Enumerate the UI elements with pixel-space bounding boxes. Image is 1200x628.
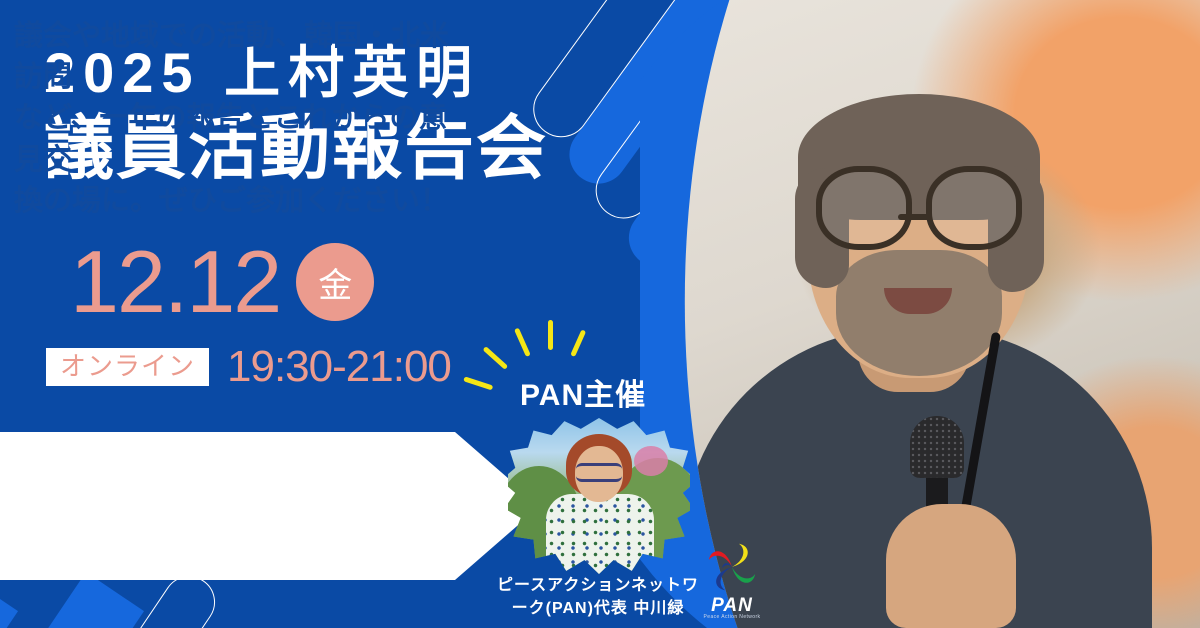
description-line-1: 議会や地域での活動、韓国・北米訪問 <box>14 16 454 98</box>
description-line-3: 換の場に。ぜひご参加ください！ <box>14 181 454 222</box>
pan-pinwheel-icon <box>695 538 769 596</box>
event-poster: 2025 上村英明 議員活動報告会 12.12 金 オンライン 19:30-21… <box>0 0 1200 628</box>
event-date-row: 12.12 金 <box>70 238 374 326</box>
speaker-photo-panel <box>640 0 1200 628</box>
pan-logo-subtitle: Peace Action Network <box>695 614 769 620</box>
presenter-photo-flowers <box>634 446 668 476</box>
portrait-glasses-left <box>816 166 912 250</box>
presenter-caption-line-2: ーク(PAN)代表 中川緑 <box>470 598 726 621</box>
bottom-stripe-1 <box>0 572 18 628</box>
microphone-head <box>910 416 964 478</box>
event-time-row: オンライン 19:30-21:00 <box>46 345 451 389</box>
pan-logo: PAN Peace Action Network <box>695 538 779 622</box>
description-text: 議会や地域での活動、韓国・北米訪問 など、一年の報告とこれからの意見交 換の場に… <box>14 16 454 222</box>
portrait-hand <box>886 504 1016 628</box>
weekday-badge: 金 <box>296 243 374 321</box>
portrait-glasses-bridge <box>898 214 930 220</box>
photo-clip <box>640 0 1200 628</box>
presenter-torso <box>546 494 654 574</box>
online-badge: オンライン <box>46 348 209 386</box>
portrait-glasses-right <box>926 166 1022 250</box>
host-block: PAN主催 <box>520 370 646 414</box>
event-date: 12.12 <box>70 238 280 326</box>
presenter-caption: ピースアクションネットワ ーク(PAN)代表 中川緑 <box>470 575 726 620</box>
description-banner <box>0 432 540 580</box>
sparkle-icon <box>490 320 610 386</box>
presenter-photo <box>508 418 690 574</box>
description-line-2: など、一年の報告とこれからの意見交 <box>14 98 454 180</box>
bottom-stripe-2 <box>19 572 144 628</box>
presenter-glasses <box>576 463 622 482</box>
main-speaker-photo <box>640 0 1200 628</box>
event-time: 19:30-21:00 <box>227 345 451 389</box>
presenter-caption-line-1: ピースアクションネットワ <box>470 575 726 598</box>
